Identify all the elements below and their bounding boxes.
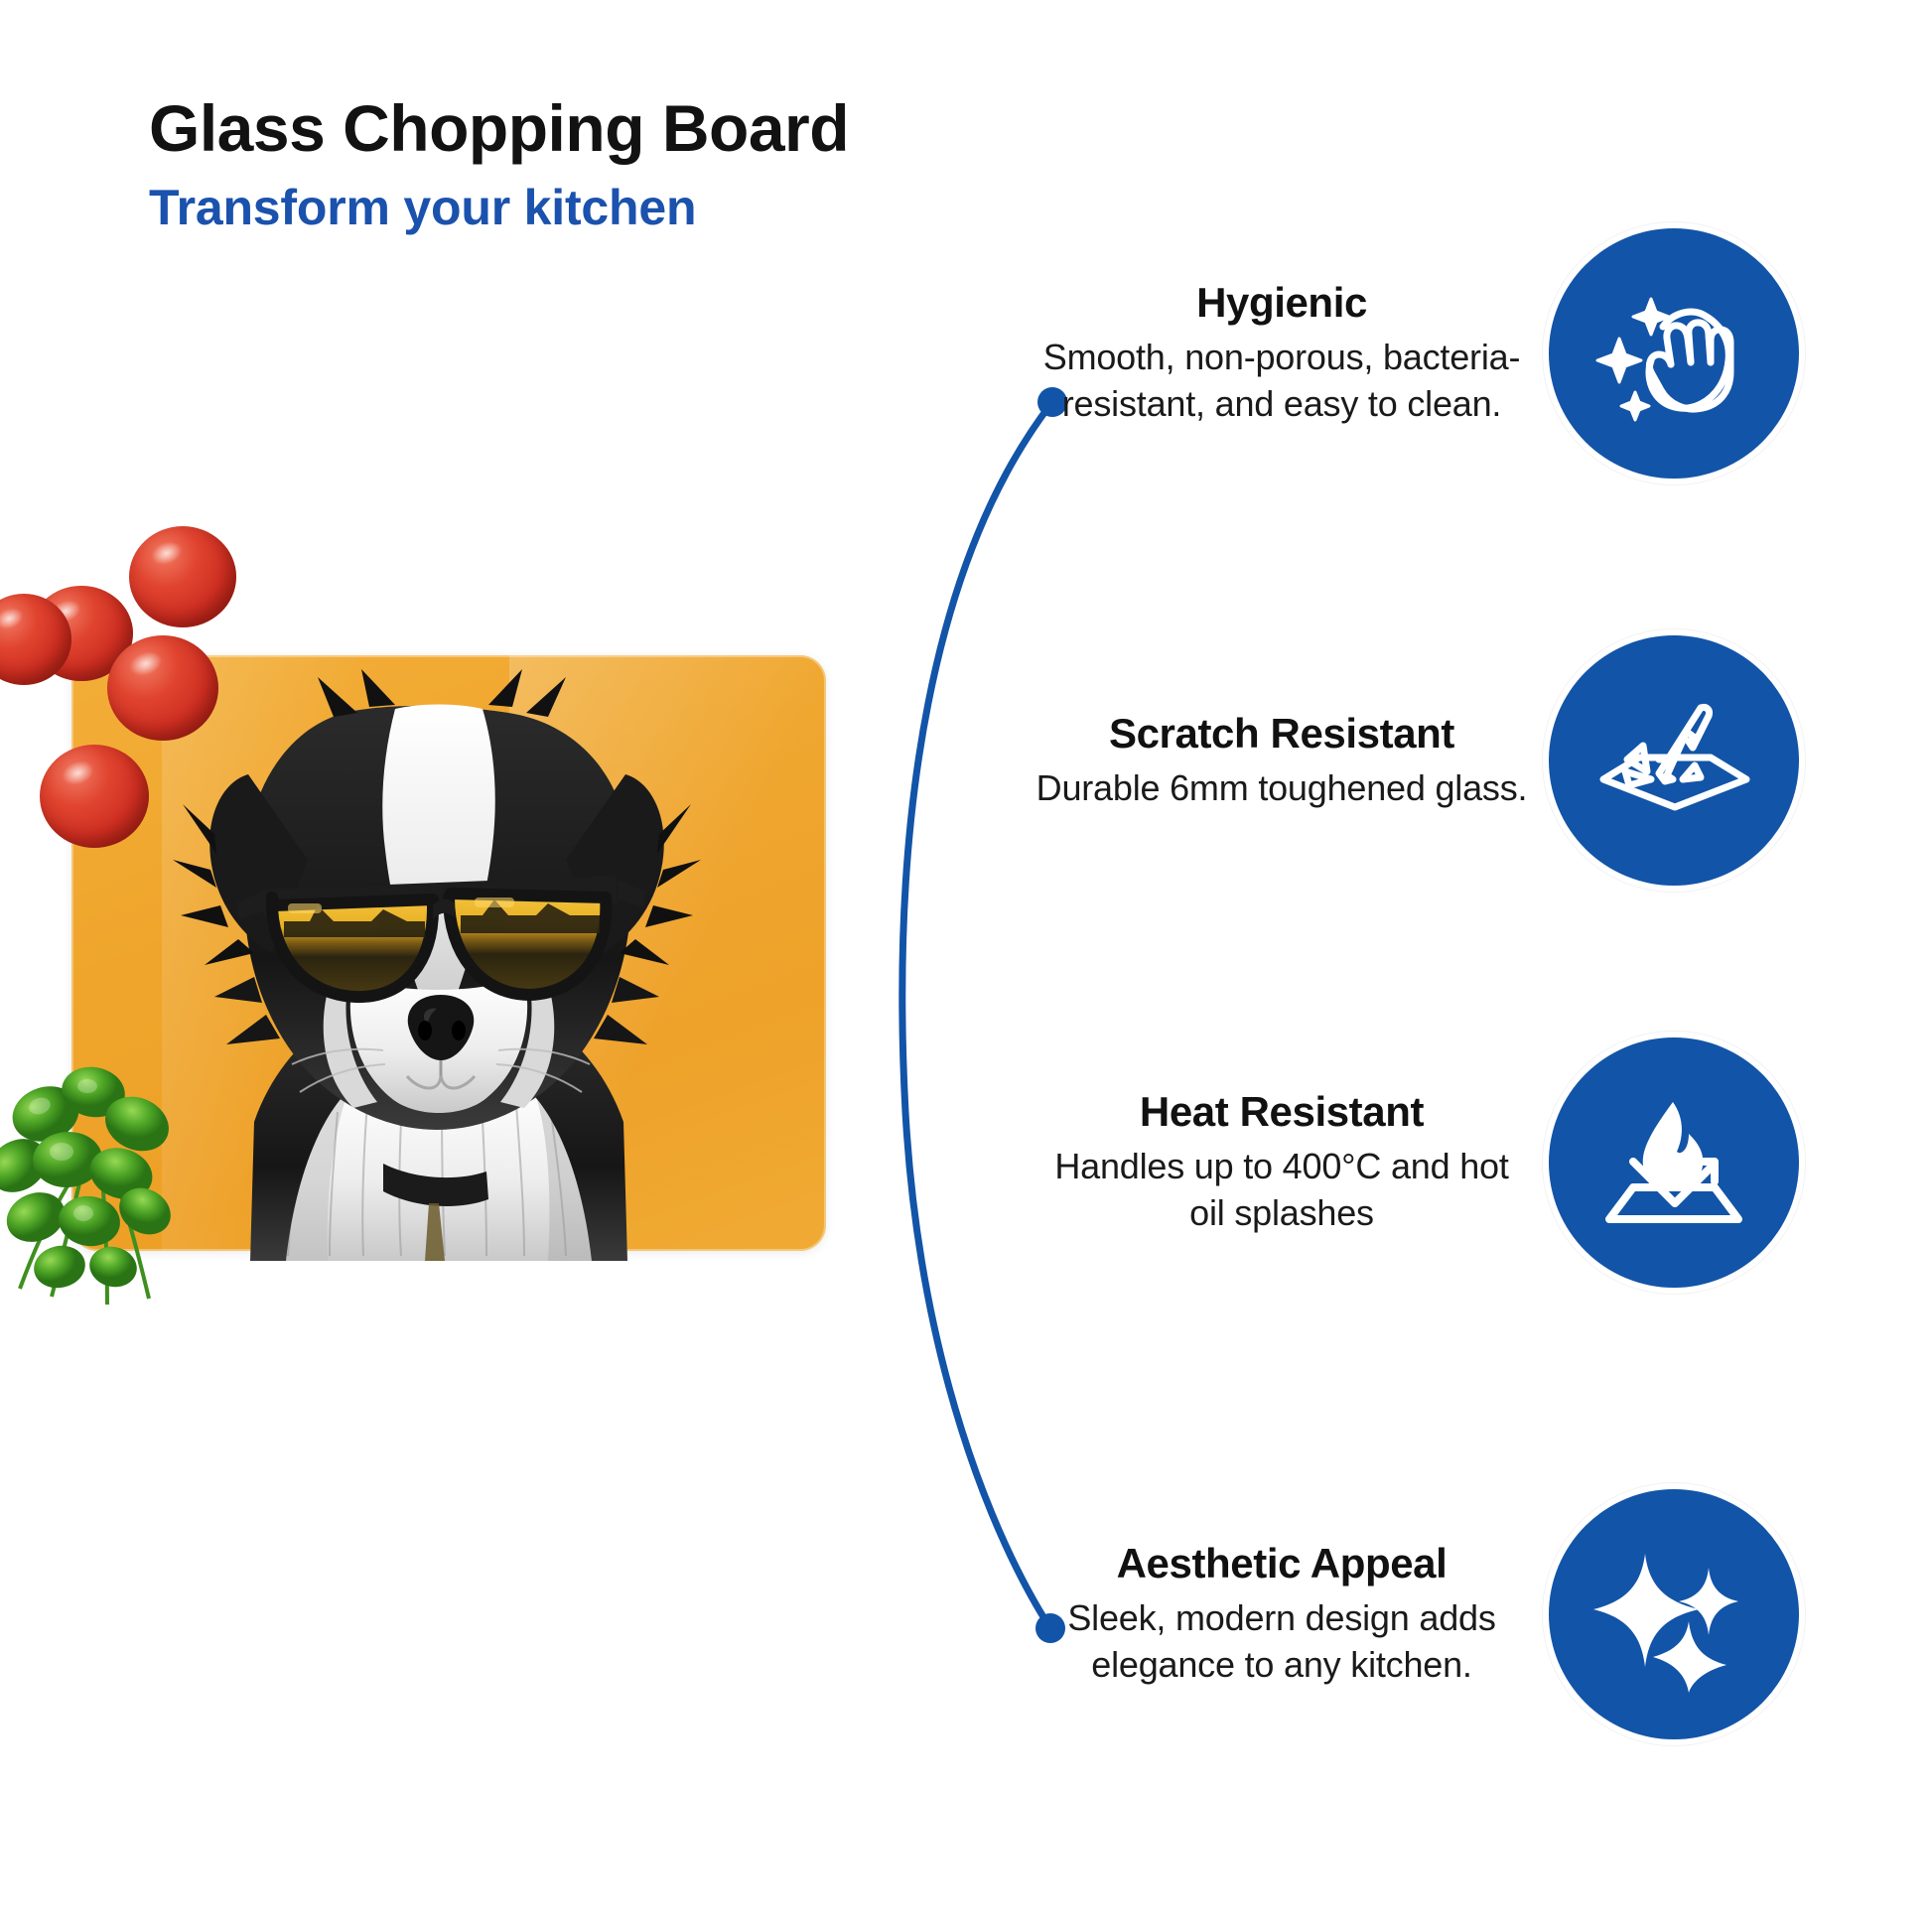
feature-title: Heat Resistant	[1033, 1088, 1531, 1136]
parsley-sprig	[0, 1062, 218, 1311]
feature-description: Sleek, modern design adds elegance to an…	[1033, 1595, 1531, 1689]
feature-title: Aesthetic Appeal	[1033, 1540, 1531, 1587]
feature-text: Scratch Resistant Durable 6mm toughened …	[1033, 710, 1549, 812]
cherry-tomato	[107, 635, 218, 741]
infographic-page: Glass Chopping Board Transform your kitc…	[0, 0, 1932, 1932]
feature-description: Smooth, non-porous, bacteria-resistant, …	[1033, 335, 1531, 428]
product-image	[0, 596, 894, 1320]
feature-item-scratch-resistant[interactable]: Scratch Resistant Durable 6mm toughened …	[1033, 635, 1906, 886]
cherry-tomato	[40, 745, 149, 848]
feature-text: Aesthetic Appeal Sleek, modern design ad…	[1033, 1540, 1549, 1689]
feature-item-heat-resistant[interactable]: Heat Resistant Handles up to 400°C and h…	[1033, 1037, 1906, 1288]
feature-item-aesthetic-appeal[interactable]: Aesthetic Appeal Sleek, modern design ad…	[1033, 1489, 1906, 1739]
hand-wipe-sparkle-icon	[1549, 228, 1799, 479]
feature-list: Hygienic Smooth, non-porous, bacteria-re…	[1033, 0, 1932, 1932]
cherry-tomato	[129, 526, 236, 627]
dog-artwork	[159, 655, 715, 1261]
sparkles-icon	[1549, 1489, 1799, 1739]
feature-item-hygienic[interactable]: Hygienic Smooth, non-porous, bacteria-re…	[1033, 228, 1906, 479]
page-title: Glass Chopping Board	[149, 94, 849, 163]
knife-on-surface-icon	[1549, 635, 1799, 886]
feature-text: Hygienic Smooth, non-porous, bacteria-re…	[1033, 279, 1549, 428]
feature-text: Heat Resistant Handles up to 400°C and h…	[1033, 1088, 1549, 1237]
flame-deflect-icon	[1549, 1037, 1799, 1288]
feature-description: Durable 6mm toughened glass.	[1033, 765, 1531, 812]
feature-title: Hygienic	[1033, 279, 1531, 327]
feature-description: Handles up to 400°C and hot oil splashes	[1033, 1144, 1531, 1237]
page-subtitle: Transform your kitchen	[149, 179, 849, 236]
feature-title: Scratch Resistant	[1033, 710, 1531, 758]
header: Glass Chopping Board Transform your kitc…	[149, 94, 849, 236]
